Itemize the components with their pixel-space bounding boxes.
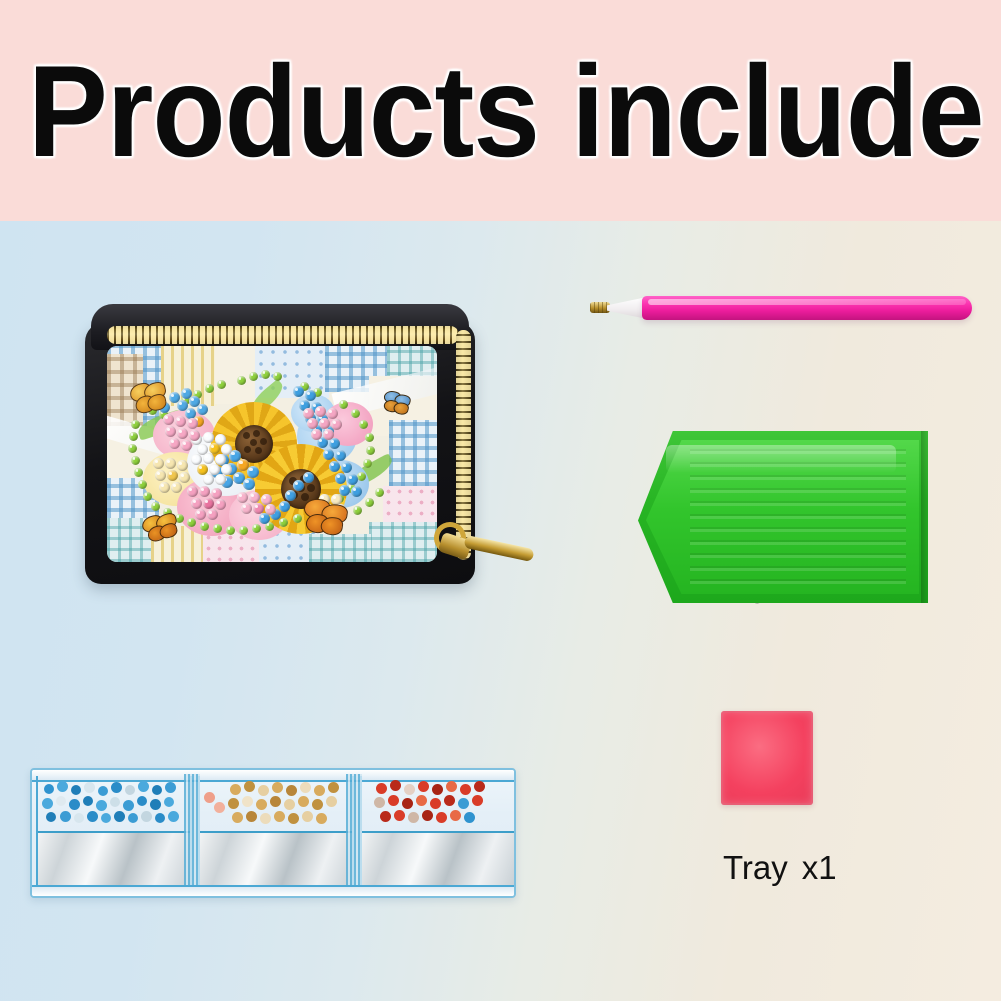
handbag-compartment-blue — [36, 776, 192, 890]
zipper-pull-icon — [440, 532, 535, 558]
clay-glue-edge — [721, 711, 813, 805]
pen-highlight — [648, 299, 966, 305]
pen-white-tip — [607, 297, 647, 319]
page-title: Products include — [28, 46, 984, 176]
handbag-foil-panel — [200, 831, 352, 890]
handbag-seam — [346, 774, 362, 892]
handbag-compartment-gold — [198, 776, 354, 890]
handbag-clear-shell — [30, 768, 516, 898]
product-pen — [590, 289, 975, 329]
product-card-case — [85, 304, 475, 584]
products-stage: Card casex1 Penx1 Trayx1 — [0, 221, 1001, 1001]
product-handbag — [30, 768, 516, 898]
header-banner: Products include — [0, 0, 1001, 221]
handbag-foil-panel — [362, 831, 514, 890]
handbag-compartment-red — [360, 776, 516, 890]
zipper-teeth — [107, 326, 459, 344]
red-rhinestones — [362, 776, 514, 833]
product-tray — [638, 431, 928, 603]
tray-right-edge — [921, 431, 928, 603]
wallet-printed-face — [107, 346, 437, 562]
handbag-bottom-seal — [32, 885, 514, 896]
gold-rhinestones — [200, 776, 352, 833]
blue-rhinestones — [38, 776, 190, 833]
product-clay-glue — [721, 711, 813, 805]
butterfly-icon — [301, 497, 349, 537]
product-infographic: Products include — [0, 0, 1001, 1001]
wallet-zipper-top — [107, 326, 459, 344]
tray-highlight — [666, 445, 896, 473]
tray-qty: x1 — [802, 849, 837, 886]
tray-caption: Trayx1 — [723, 849, 837, 887]
handbag-foil-panel — [38, 831, 190, 890]
tray-label: Tray — [723, 849, 788, 886]
handbag-seam — [184, 774, 200, 892]
